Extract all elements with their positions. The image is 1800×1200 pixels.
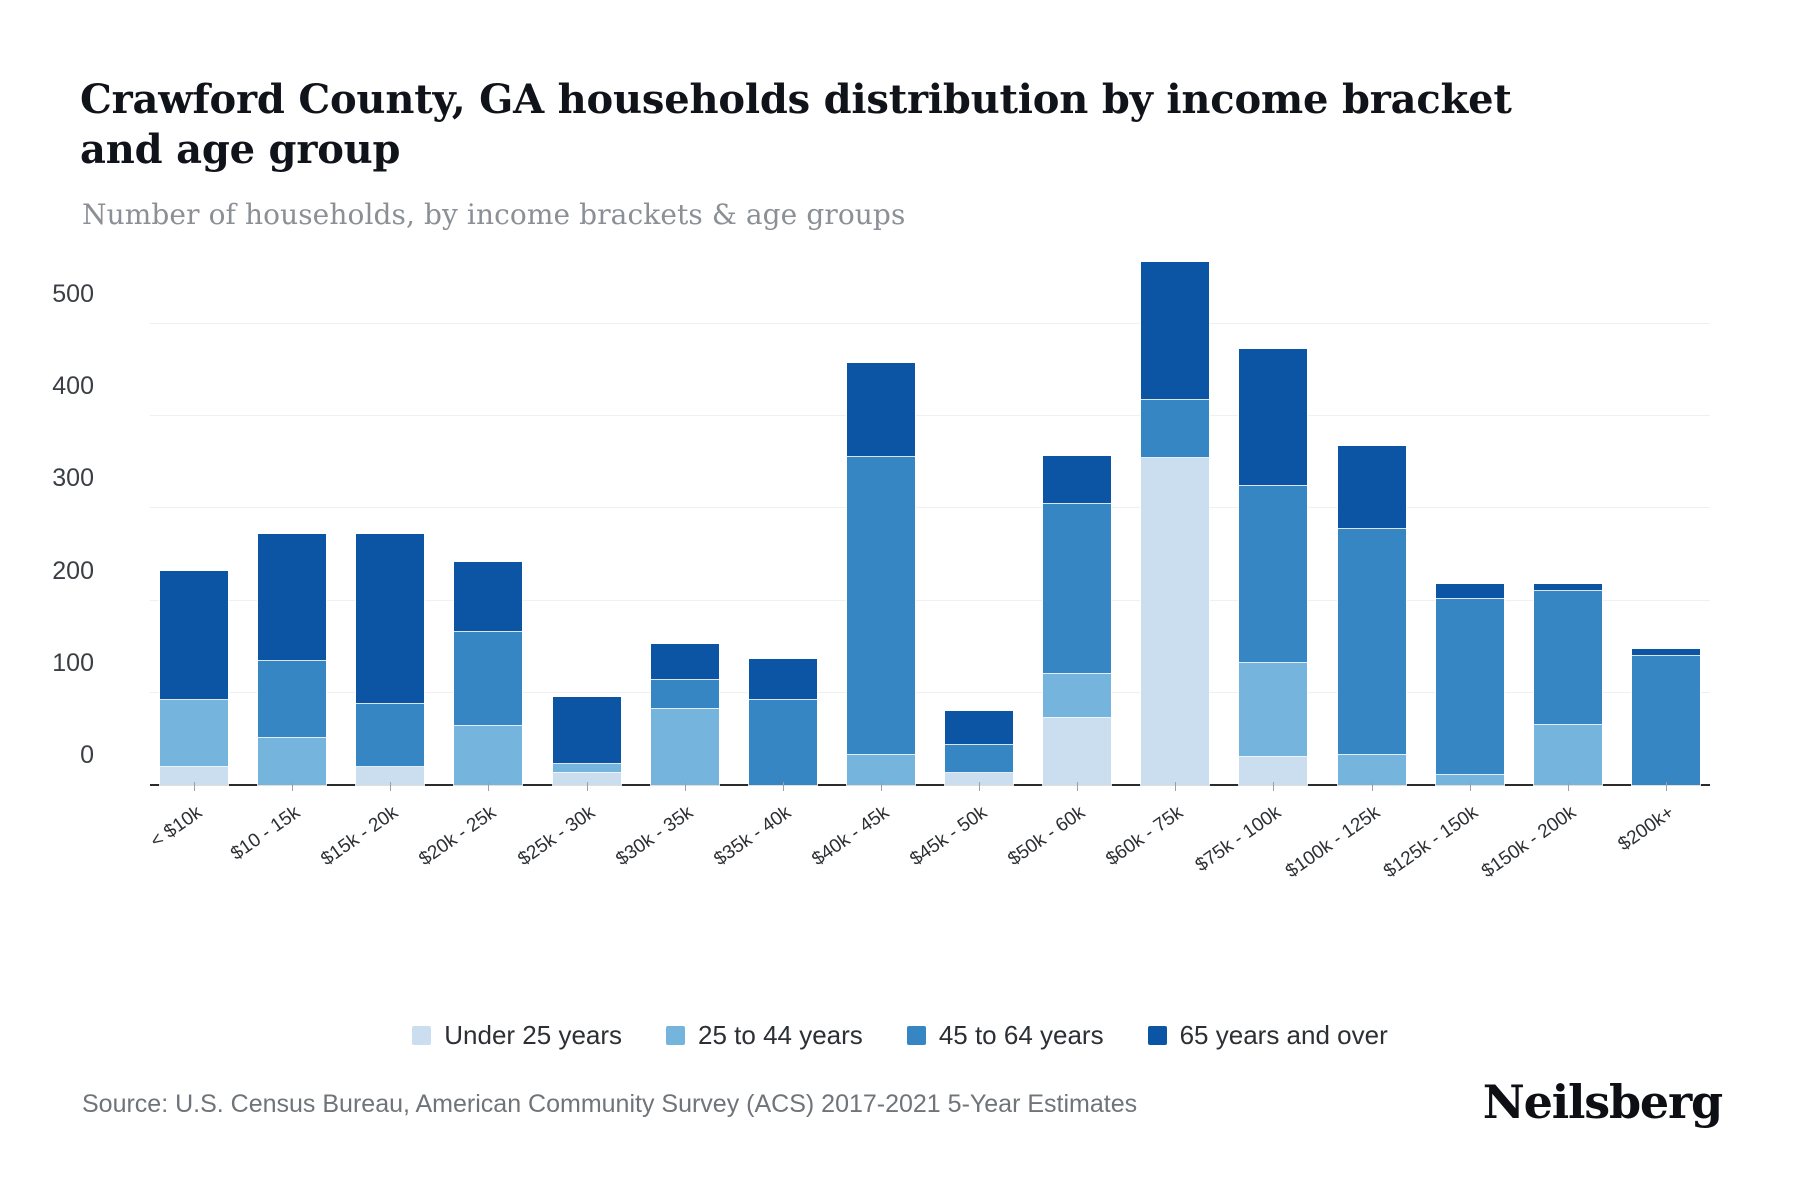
y-axis-tick-label: 300 [0,464,94,493]
bar-segment[interactable] [1239,663,1307,757]
x-axis-tick-mark [292,782,293,791]
bar-stack[interactable] [1338,250,1406,785]
x-axis-label-wrap: $15k - 20k [356,790,424,910]
legend-label: 45 to 64 years [939,1020,1104,1051]
source-note: Source: U.S. Census Bureau, American Com… [82,1090,1137,1119]
x-axis-label-wrap: $60k - 75k [1141,790,1209,910]
bar-stack[interactable] [1239,250,1307,785]
bar-segment[interactable] [1141,400,1209,457]
bar-segment[interactable] [258,534,326,660]
bar-stack[interactable] [651,250,719,785]
x-axis-tick-mark [783,782,784,791]
x-axis-tick-label: $25k - 30k [514,802,599,871]
bar-segment[interactable] [454,632,522,726]
bar-segment[interactable] [553,697,621,763]
x-axis-tick-mark [1568,782,1569,791]
x-axis-tick-label: $35k - 40k [710,802,795,871]
bar-segment[interactable] [651,680,719,710]
bar-segment[interactable] [1534,725,1602,785]
bar-segment[interactable] [847,755,915,785]
legend-swatch [412,1026,431,1045]
legend-swatch [666,1026,685,1045]
bar-stack[interactable] [258,250,326,785]
bar-stack[interactable] [1436,250,1504,785]
bar-segment[interactable] [1239,486,1307,663]
x-axis-tick-mark [1666,782,1667,791]
y-axis-tick-label: 100 [0,649,94,678]
bar-stack[interactable] [553,250,621,785]
bar-segment[interactable] [847,363,915,456]
x-axis-labels: < $10k$10 - 15k$15k - 20k$20k - 25k$25k … [150,790,1710,910]
bars-group [150,250,1710,785]
legend-item[interactable]: 25 to 44 years [666,1020,863,1051]
bar-segment[interactable] [1436,584,1504,599]
bar-segment[interactable] [160,571,228,700]
x-axis-label-wrap: $25k - 30k [553,790,621,910]
plot-area: 0100200300400500 [150,250,1710,785]
bar-segment[interactable] [749,700,817,785]
x-axis-tick-label: $40k - 45k [808,802,893,871]
x-axis-label-wrap: $45k - 50k [945,790,1013,910]
x-axis-tick-label: $30k - 35k [612,802,697,871]
bar-segment[interactable] [258,661,326,738]
y-axis-tick-label: 200 [0,557,94,586]
bar-stack[interactable] [454,250,522,785]
bar-stack[interactable] [847,250,915,785]
x-axis-label-wrap: $35k - 40k [749,790,817,910]
x-axis-label-wrap: $125k - 150k [1436,790,1504,910]
bar-segment[interactable] [749,659,817,701]
bar-segment[interactable] [258,738,326,785]
x-axis-tick-mark [1273,782,1274,791]
x-axis-label-wrap: $10 - 15k [258,790,326,910]
chart-legend: Under 25 years25 to 44 years45 to 64 yea… [0,1020,1800,1051]
bar-stack[interactable] [160,250,228,785]
x-axis-tick-mark [1175,782,1176,791]
bar-segment[interactable] [945,745,1013,773]
bar-segment[interactable] [1534,584,1602,591]
x-axis-label-wrap: $75k - 100k [1239,790,1307,910]
x-axis-label-wrap: $20k - 25k [454,790,522,910]
legend-swatch [907,1026,926,1045]
y-axis-tick-label: 500 [0,280,94,309]
legend-item[interactable]: 45 to 64 years [907,1020,1104,1051]
brand-logo: Neilsberg [1483,1075,1722,1129]
bar-segment[interactable] [1338,446,1406,529]
bar-segment[interactable] [454,562,522,632]
bar-segment[interactable] [1043,504,1111,675]
bar-segment[interactable] [356,534,424,704]
x-axis-tick-mark [587,782,588,791]
y-axis-tick-label: 0 [0,741,94,770]
x-axis-tick-mark [1372,782,1373,791]
x-axis-tick-mark [390,782,391,791]
bar-segment[interactable] [1043,456,1111,504]
bar-segment[interactable] [1338,755,1406,785]
bar-segment[interactable] [160,700,228,766]
x-axis-tick-mark [881,782,882,791]
x-axis-tick-label: $20k - 25k [416,802,501,871]
bar-segment[interactable] [454,726,522,785]
x-axis-label-wrap: $100k - 125k [1338,790,1406,910]
bar-segment[interactable] [356,704,424,767]
bar-segment[interactable] [1239,757,1307,785]
x-axis-label-wrap: $50k - 60k [1043,790,1111,910]
x-axis-tick-label: $10 - 15k [227,802,305,865]
bar-segment[interactable] [1141,458,1209,785]
bar-segment[interactable] [1043,674,1111,717]
legend-label: 25 to 44 years [698,1020,863,1051]
x-axis-tick-mark [1470,782,1471,791]
bar-stack[interactable] [1632,250,1700,785]
x-axis-tick-label: < $10k [147,802,207,853]
page-subtitle: Number of households, by income brackets… [82,198,905,231]
bar-segment[interactable] [1043,718,1111,785]
legend-label: 65 years and over [1180,1020,1388,1051]
legend-label: Under 25 years [444,1020,622,1051]
bar-stack[interactable] [749,250,817,785]
x-axis-tick-label: $45k - 50k [906,802,991,871]
x-axis-label-wrap: < $10k [160,790,228,910]
x-axis-tick-mark [979,782,980,791]
bar-segment[interactable] [1632,656,1700,785]
x-axis-label-wrap: $40k - 45k [847,790,915,910]
bar-stack[interactable] [945,250,1013,785]
bar-stack[interactable] [1141,250,1209,785]
legend-item[interactable]: Under 25 years [412,1020,622,1051]
legend-item[interactable]: 65 years and over [1148,1020,1388,1051]
bar-segment[interactable] [651,709,719,785]
y-axis-tick-label: 400 [0,372,94,401]
bar-segment[interactable] [651,644,719,680]
x-axis-tick-label: $15k - 20k [318,802,403,871]
x-axis-tick-mark [488,782,489,791]
x-axis-tick-mark [194,782,195,791]
bar-stack[interactable] [1534,250,1602,785]
x-axis-tick-label: $60k - 75k [1103,802,1188,871]
bar-segment[interactable] [1141,262,1209,400]
bar-segment[interactable] [1436,599,1504,775]
bar-stack[interactable] [1043,250,1111,785]
x-axis-tick-label: $50k - 60k [1004,802,1089,871]
bar-segment[interactable] [1338,529,1406,755]
chart-page: Crawford County, GA households distribut… [0,0,1800,1200]
bar-stack[interactable] [356,250,424,785]
bar-segment[interactable] [553,764,621,773]
bar-segment[interactable] [945,711,1013,745]
legend-swatch [1148,1026,1167,1045]
x-axis-label-wrap: $150k - 200k [1534,790,1602,910]
bar-segment[interactable] [1534,591,1602,725]
x-axis-label-wrap: $200k+ [1632,790,1700,910]
x-axis-tick-mark [685,782,686,791]
x-axis-tick-mark [1077,782,1078,791]
bar-segment[interactable] [847,457,915,755]
page-title: Crawford County, GA households distribut… [80,75,1520,176]
bar-segment[interactable] [1239,349,1307,486]
x-axis-label-wrap: $30k - 35k [651,790,719,910]
x-axis-tick-label: $200k+ [1614,802,1678,856]
